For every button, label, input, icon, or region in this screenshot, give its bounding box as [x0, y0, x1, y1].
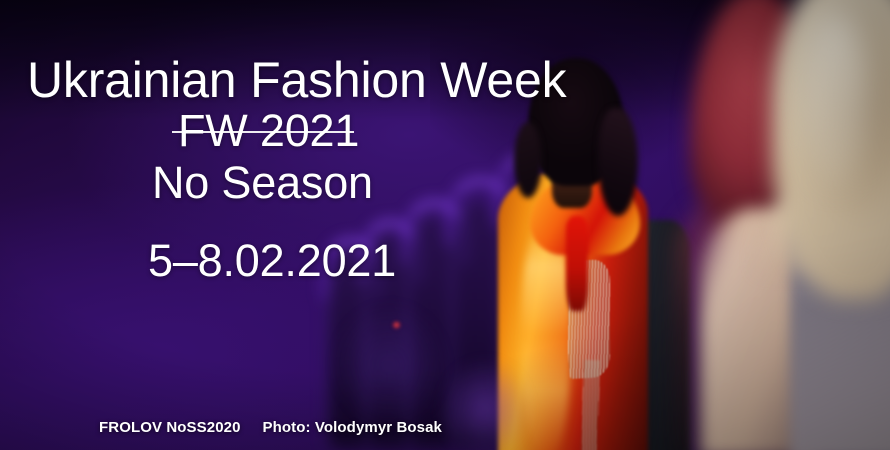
strikethrough-line — [172, 131, 354, 133]
caption-collection: FROLOV NoSS2020 — [99, 419, 241, 436]
event-dates: 5–8.02.2021 — [148, 238, 396, 283]
poster-text-layer: Ukrainian Fashion Week FW 2021 No Season… — [0, 0, 890, 450]
fashion-week-poster: Ukrainian Fashion Week FW 2021 No Season… — [0, 0, 890, 450]
photo-caption: FROLOV NoSS2020 Photo: Volodymyr Bosak — [99, 419, 442, 436]
replacement-season-label: No Season — [152, 160, 373, 205]
page-title: Ukrainian Fashion Week — [27, 55, 566, 105]
caption-photo-credit: Photo: Volodymyr Bosak — [263, 419, 442, 436]
